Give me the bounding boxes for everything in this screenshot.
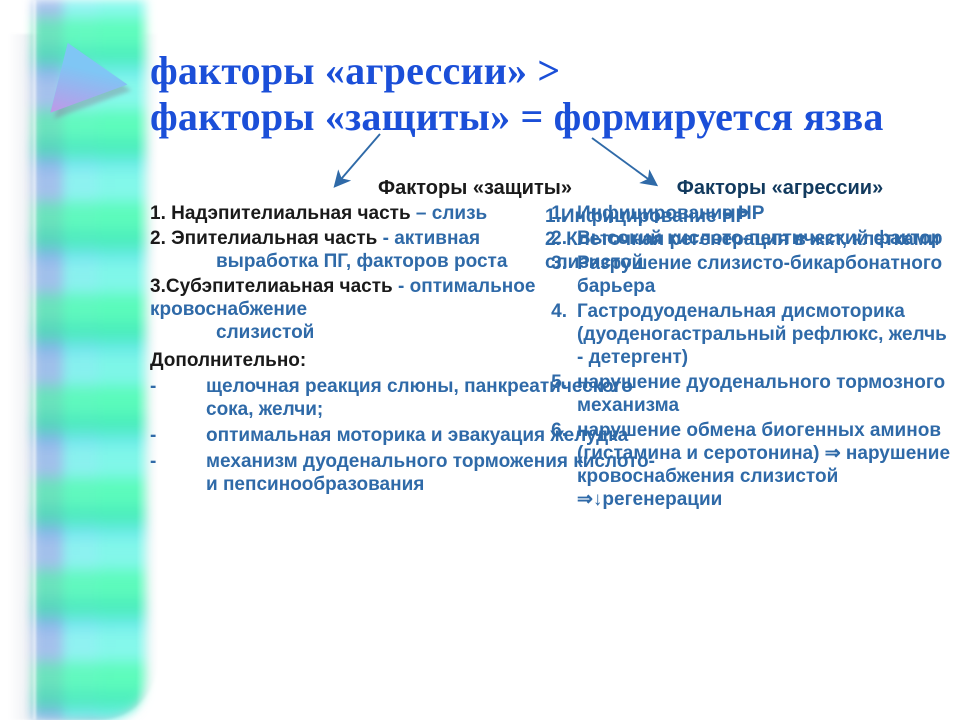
list-item-label: Надэпителиальная часть [171, 203, 411, 224]
ghost-line-1: 1.Инфицирование НР [545, 205, 945, 228]
slide-title-line-2: факторы «защиты» = формируется язва [150, 94, 950, 140]
slide-title-line-1: факторы «агрессии» > [150, 48, 950, 94]
list-item-label: механизм дуоденального торможения кислот… [206, 450, 670, 496]
list-item: - механизм дуоденального торможения кисл… [150, 450, 670, 496]
list-item-bullet: - [150, 424, 206, 447]
protective-factors-heading: Факторы «защиты» [150, 176, 670, 200]
list-item-number: 1. [150, 203, 166, 224]
list-item-detail: - активная [383, 228, 480, 249]
list-item-number: 2. [150, 228, 166, 249]
list-item: - щелочная реакция слюны, панкреатическо… [150, 375, 670, 421]
list-item-bullet: - [150, 450, 206, 496]
list-item-bullet: - [150, 375, 206, 421]
list-item-detail: – слизь [416, 203, 487, 224]
list-item: - оптимальная моторика и эвакуация желуд… [150, 424, 670, 447]
list-item-label: оптимальная моторика и эвакуация желудка [206, 424, 670, 447]
list-item-label: Эпителиальная часть [171, 228, 377, 249]
additional-label: Дополнительно: [150, 350, 670, 372]
decorative-gradient-band [0, 0, 170, 720]
list-item-number: 3. [150, 276, 166, 297]
list-item-continuation: слизистой [150, 321, 670, 344]
slide-title: факторы «агрессии» > факторы «защиты» = … [150, 48, 950, 140]
list-item: 3.Субэпителиаьная часть - оптимальное кр… [150, 275, 670, 344]
overlapping-ghost-text: 1.Инфицирование НР 2. Клеточная регенера… [545, 205, 945, 274]
list-item-label: щелочная реакция слюны, панкреатического… [206, 375, 670, 421]
band-edge-highlight [33, 0, 36, 720]
list-item-label: Субэпителиаьная часть [166, 276, 393, 297]
ghost-line-3: 2. Клеточная регенерация в жкт, клетками… [545, 228, 945, 274]
